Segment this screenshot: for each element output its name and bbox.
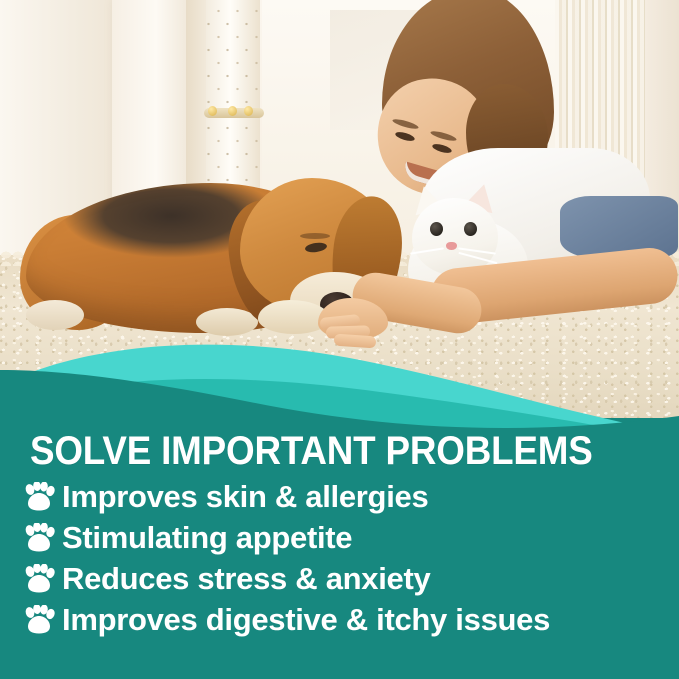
dog-tail-tip <box>26 300 84 330</box>
benefits-list: Improves skin & allergies Stimulating ap… <box>23 476 550 640</box>
curtain-ring <box>208 106 217 116</box>
paw-icon <box>23 605 55 636</box>
list-item: Improves digestive & itchy issues <box>23 599 550 640</box>
girl-shorts <box>560 196 678 258</box>
benefits-content: SOLVE IMPORTANT PROBLEMS Improves skin &… <box>0 418 679 679</box>
page-title: SOLVE IMPORTANT PROBLEMS <box>30 429 593 473</box>
curtain-ring <box>228 106 237 116</box>
paw-icon <box>23 523 55 554</box>
paw-icon <box>23 482 55 513</box>
product-benefits-poster: SOLVE IMPORTANT PROBLEMS Improves skin &… <box>0 0 679 679</box>
cat-eye <box>430 222 443 236</box>
paw-icon <box>23 564 55 595</box>
curtain-ring <box>244 106 253 116</box>
list-item: Reduces stress & anxiety <box>23 558 550 599</box>
cat-nose <box>446 242 457 250</box>
dog-brow <box>300 233 330 239</box>
list-item: Improves skin & allergies <box>23 476 550 517</box>
benefit-text: Improves digestive & itchy issues <box>62 603 550 636</box>
benefit-text: Reduces stress & anxiety <box>62 562 430 595</box>
benefit-text: Improves skin & allergies <box>62 480 428 513</box>
list-item: Stimulating appetite <box>23 517 550 558</box>
benefit-text: Stimulating appetite <box>62 521 352 554</box>
cat-eye <box>464 222 477 236</box>
